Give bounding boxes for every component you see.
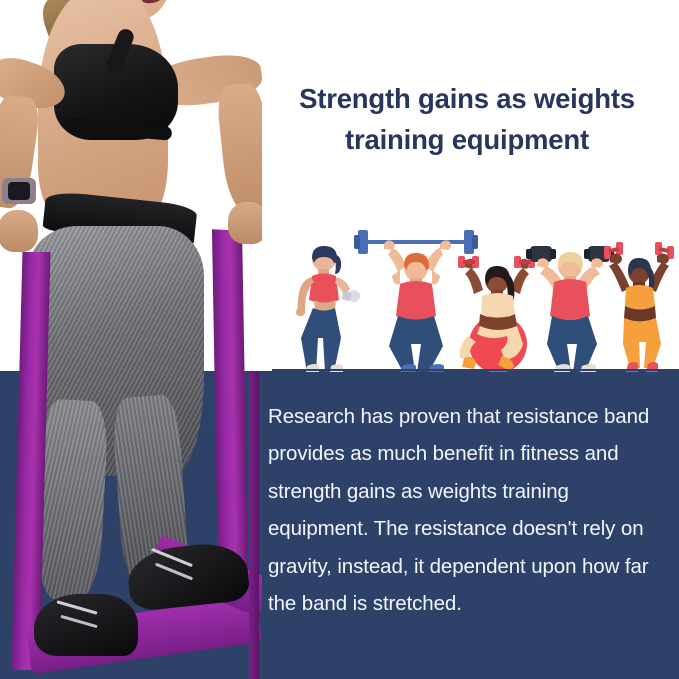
illustration-baseline <box>272 369 679 371</box>
description-text: Research has proven that resistance band… <box>268 398 674 623</box>
smartwatch <box>2 178 36 204</box>
band-edge-stripe <box>249 371 259 679</box>
description-panel: Research has proven that resistance band… <box>262 373 676 671</box>
model-right-forearm <box>215 82 262 214</box>
product-infographic: Strength gains as weights training equip… <box>0 0 679 679</box>
fitness-illustration-row <box>272 212 679 372</box>
figure-woman-arms-raised <box>600 236 678 372</box>
model-right-hand <box>228 202 262 244</box>
headline-line-2: training equipment <box>262 119 672 160</box>
model-left-hand <box>0 210 38 252</box>
headline: Strength gains as weights training equip… <box>262 78 672 160</box>
headline-line-1: Strength gains as weights <box>262 78 672 119</box>
resistance-band-right <box>212 229 248 570</box>
hero-photo <box>0 0 262 679</box>
figure-woman-dumbbell-curl <box>284 246 364 372</box>
smartwatch-face <box>8 182 30 200</box>
